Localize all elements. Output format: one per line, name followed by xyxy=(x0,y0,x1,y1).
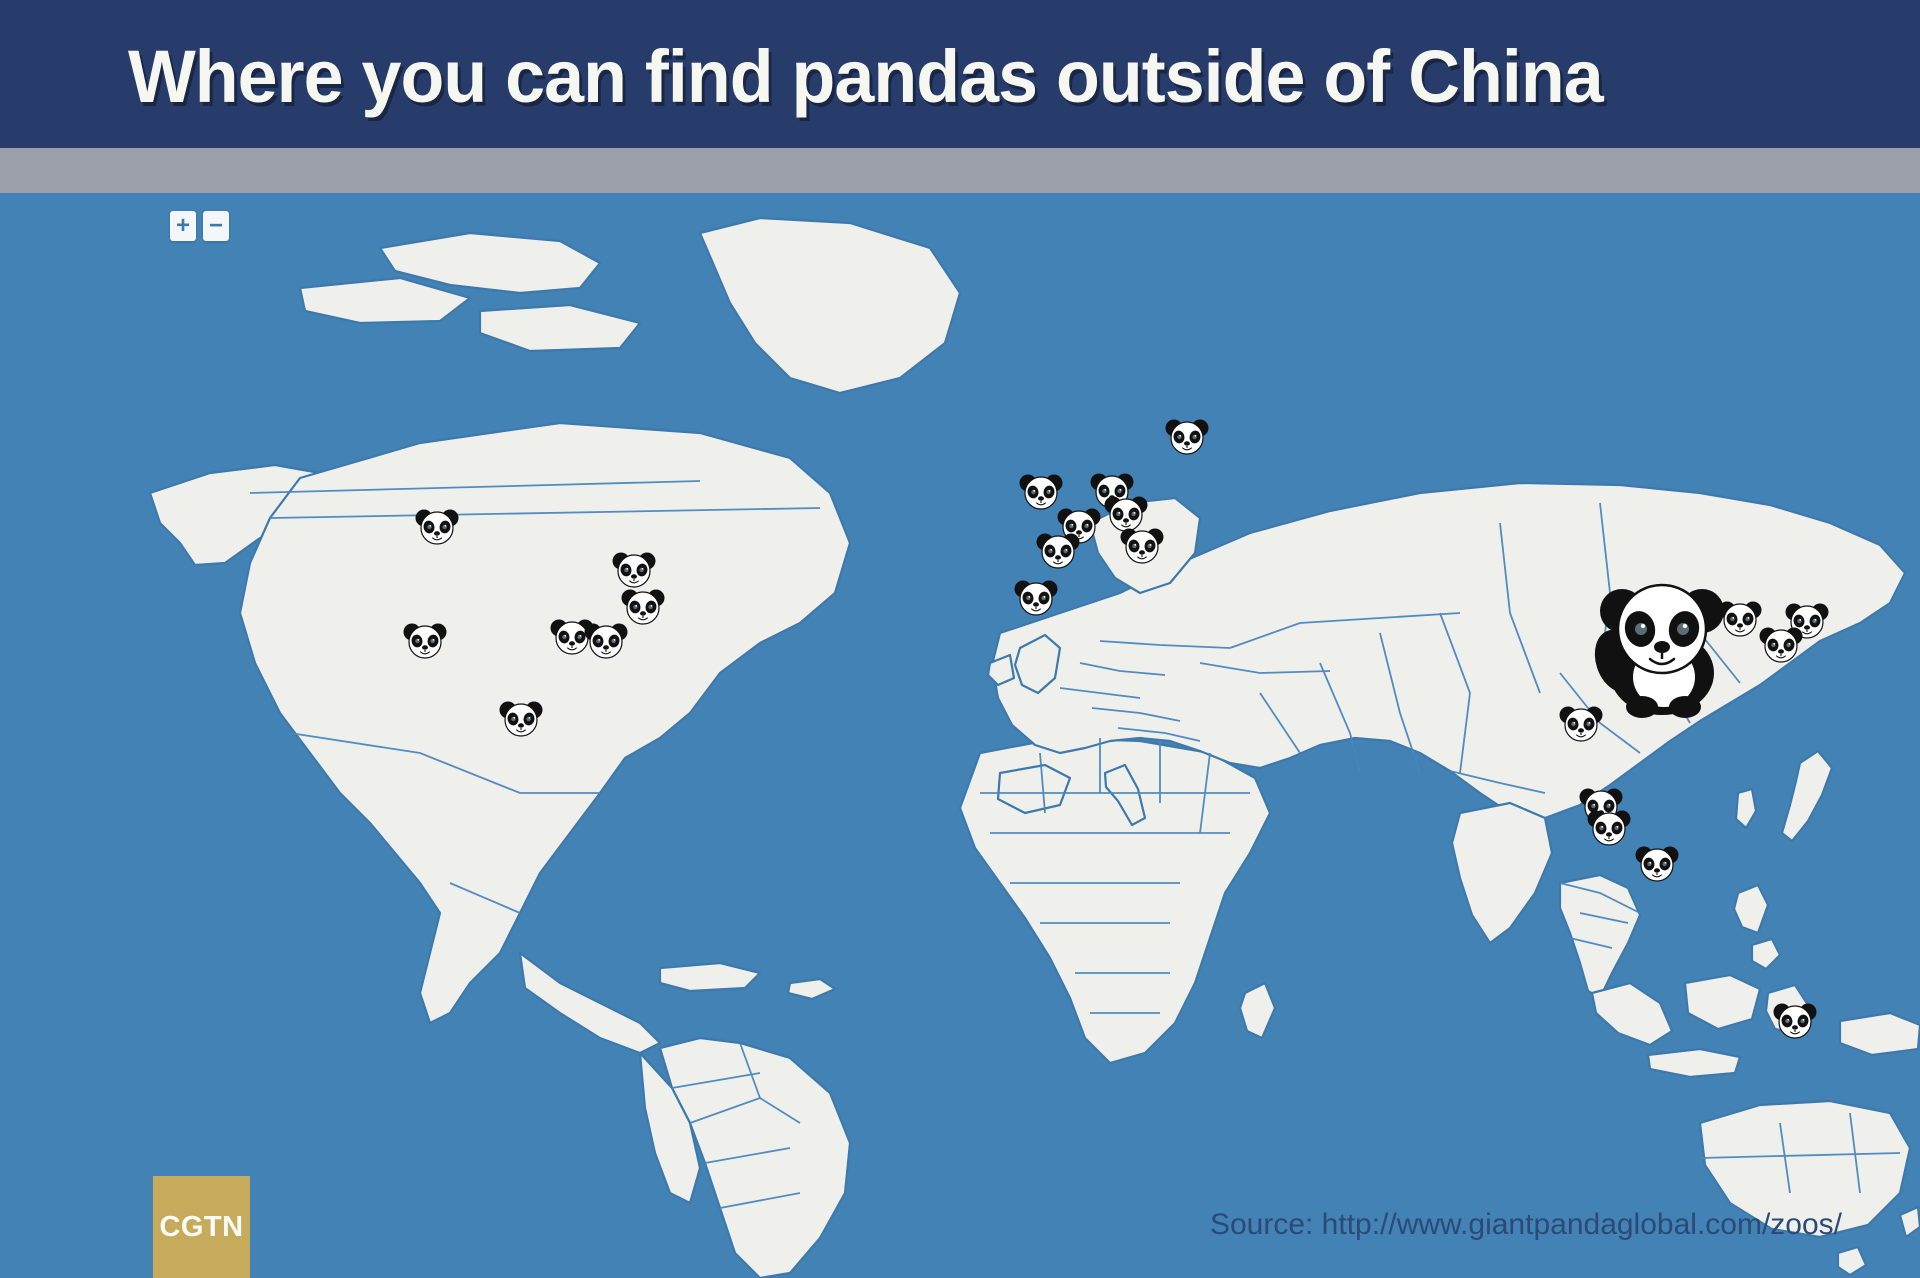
panda-head-icon xyxy=(1558,704,1604,744)
panda-marker[interactable] xyxy=(1558,704,1604,744)
map-zoom-controls[interactable]: + − xyxy=(170,211,229,241)
panda-head-icon xyxy=(611,550,657,590)
panda-marker[interactable] xyxy=(1035,531,1081,571)
panda-head-icon xyxy=(1717,599,1763,639)
panda-marker[interactable] xyxy=(1586,808,1632,848)
cgtn-logo-text: CGTN xyxy=(159,1211,243,1244)
panda-head-icon xyxy=(1013,578,1059,618)
source-attribution: Source: http://www.giantpandaglobal.com/… xyxy=(1210,1208,1842,1242)
panda-head-icon xyxy=(583,621,629,661)
panda-marker[interactable] xyxy=(583,621,629,661)
panda-marker[interactable] xyxy=(1634,844,1680,884)
title-band: Where you can find pandas outside of Chi… xyxy=(0,0,1920,148)
panda-marker[interactable] xyxy=(498,699,544,739)
panda-marker-china[interactable] xyxy=(1582,573,1742,723)
zoom-out-button[interactable]: − xyxy=(203,211,229,241)
panda-head-icon xyxy=(1586,808,1632,848)
panda-head-icon xyxy=(1772,1001,1818,1041)
cgtn-logo: CGTN xyxy=(153,1176,250,1278)
panda-marker[interactable] xyxy=(611,550,657,590)
zoom-in-button[interactable]: + xyxy=(170,211,196,241)
infographic-root: Where you can find pandas outside of Chi… xyxy=(0,0,1920,1278)
world-map[interactable]: + − xyxy=(0,193,1920,1278)
panda-marker[interactable] xyxy=(414,507,460,547)
panda-marker[interactable] xyxy=(1013,578,1059,618)
panda-head-icon xyxy=(402,621,448,661)
page-title: Where you can find pandas outside of Chi… xyxy=(128,34,1603,119)
world-map-vector xyxy=(0,193,1920,1278)
panda-head-icon xyxy=(498,699,544,739)
panda-marker[interactable] xyxy=(1119,526,1165,566)
panda-marker[interactable] xyxy=(1758,625,1804,665)
panda-marker[interactable] xyxy=(1717,599,1763,639)
panda-head-icon xyxy=(1164,417,1210,457)
panda-marker[interactable] xyxy=(1164,417,1210,457)
subtitle-band: (As of April 3, 2019) xyxy=(0,148,1920,193)
panda-head-icon xyxy=(1634,844,1680,884)
panda-head-icon xyxy=(1035,531,1081,571)
panda-full-body-icon xyxy=(1582,573,1742,723)
panda-head-icon xyxy=(414,507,460,547)
panda-head-icon xyxy=(1119,526,1165,566)
panda-marker[interactable] xyxy=(1772,1001,1818,1041)
panda-marker[interactable] xyxy=(402,621,448,661)
panda-head-icon xyxy=(1758,625,1804,665)
